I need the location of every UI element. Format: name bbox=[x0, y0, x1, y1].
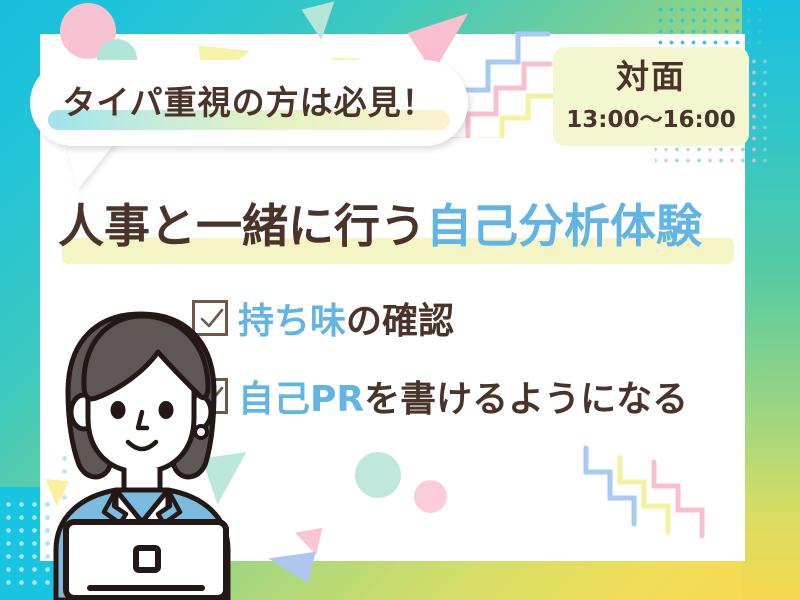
session-mode-label: 対面 bbox=[616, 59, 686, 95]
page-title: 人事と一緒に行う自己分析体験 bbox=[58, 190, 738, 256]
session-info-box: 対面 13:00〜16:00 bbox=[553, 47, 749, 146]
session-time-label: 13:00〜16:00 bbox=[566, 100, 735, 134]
list-item: 持ち味の確認 bbox=[192, 292, 752, 344]
headline-block: 人事と一緒に行う自己分析体験 bbox=[58, 190, 738, 270]
list-item-dark-text: を書けるようになる bbox=[364, 379, 688, 420]
list-item-blue-text: 自己PR bbox=[238, 379, 364, 420]
list-item-blue-text: 持ち味 bbox=[238, 301, 346, 342]
list-item: 自己PRを書けるようになる bbox=[192, 370, 752, 422]
benefit-checklist: 持ち味の確認 自己PRを書けるようになる bbox=[192, 292, 752, 448]
speech-bubble-text: タイパ重視の方は必見！ bbox=[30, 76, 468, 124]
headline-dark-part: 人事と一緒に行う bbox=[58, 199, 426, 253]
woman-with-laptop-illustration bbox=[38, 300, 248, 600]
list-item-text: 持ち味の確認 bbox=[238, 292, 454, 344]
speech-bubble: タイパ重視の方は必見！ bbox=[30, 60, 468, 146]
list-item-dark-text: の確認 bbox=[346, 301, 454, 342]
headline-blue-part: 自己分析体験 bbox=[426, 199, 702, 253]
poster-root: タイパ重視の方は必見！ 対面 13:00〜16:00 人事と一緒に行う自己分析体… bbox=[0, 0, 800, 600]
list-item-text: 自己PRを書けるようになる bbox=[238, 370, 688, 422]
